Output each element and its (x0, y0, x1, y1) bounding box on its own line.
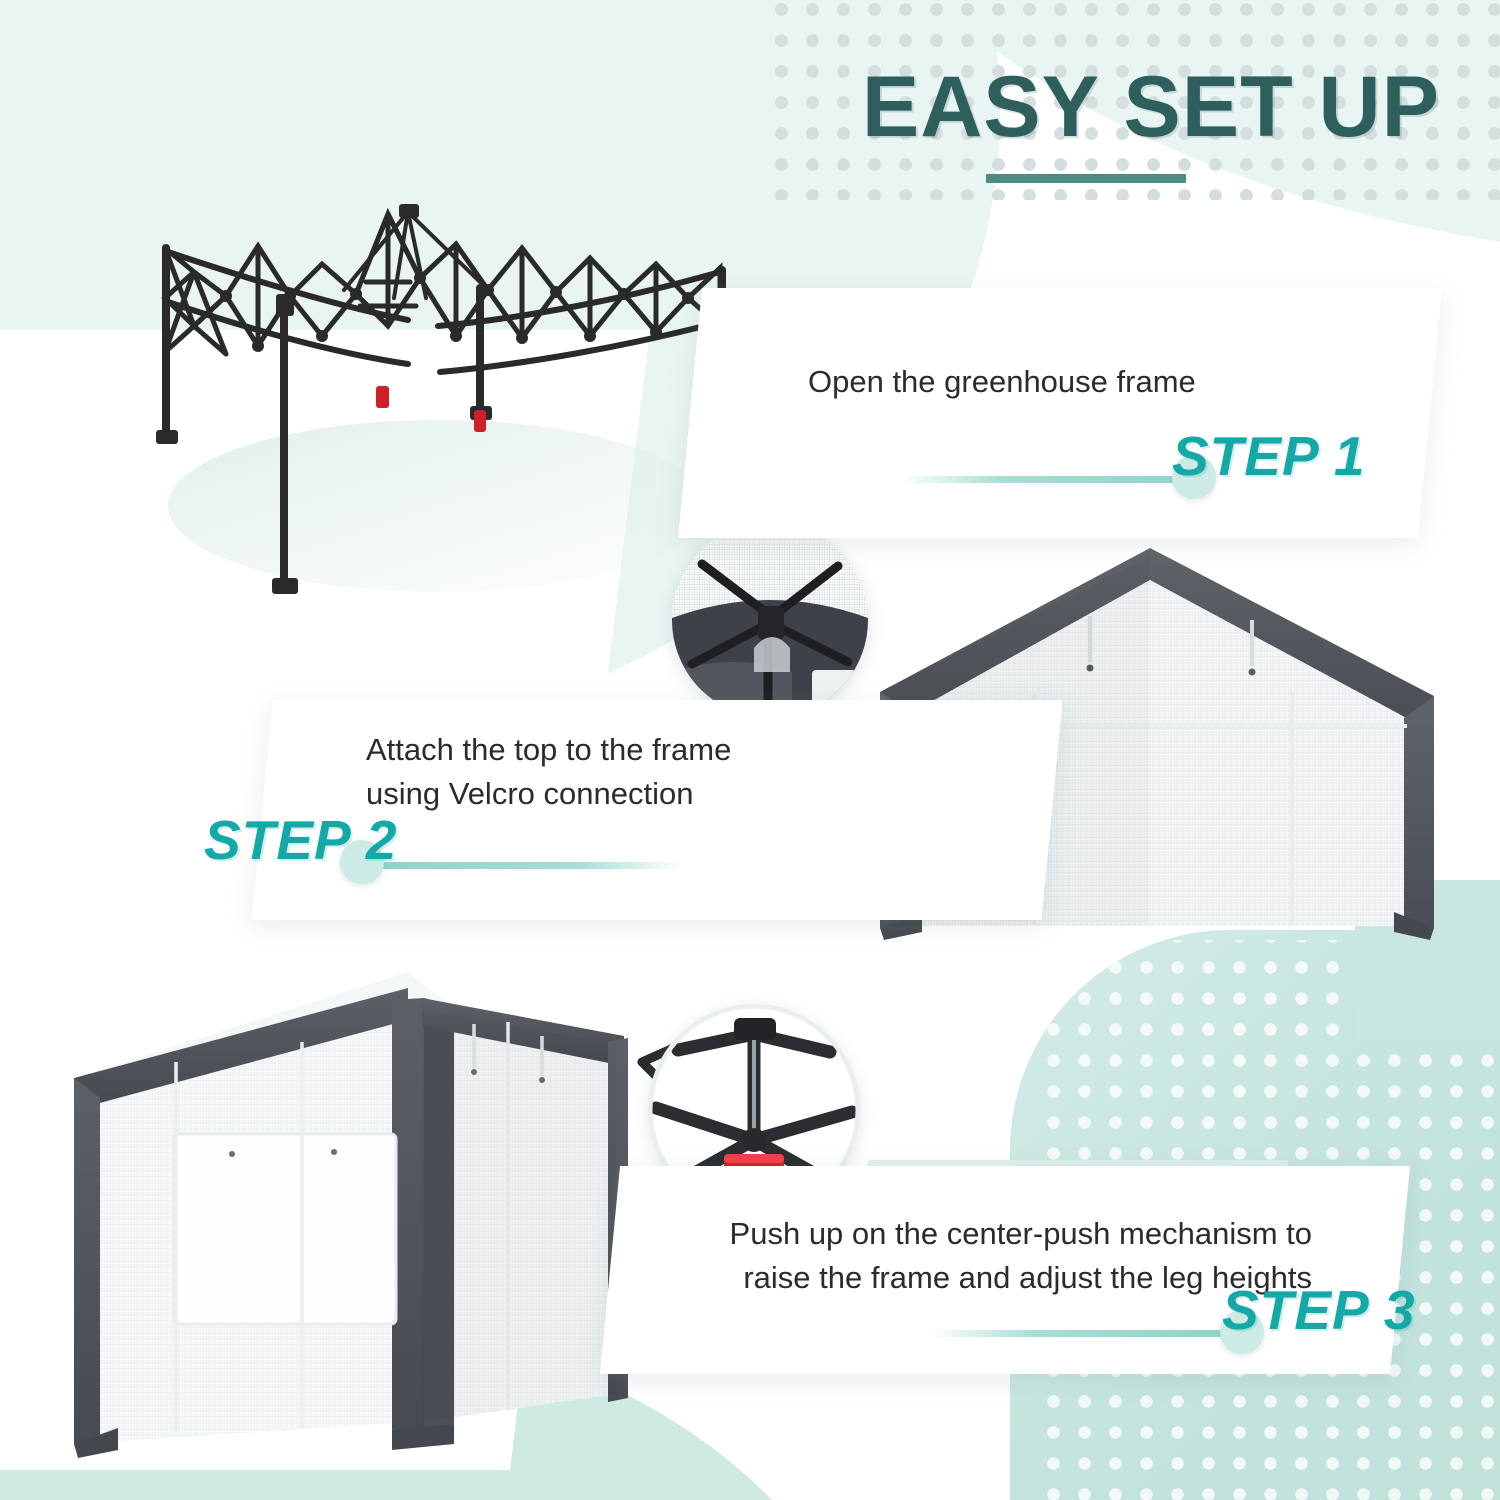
step1-rule (900, 476, 1200, 483)
content-layer: EASY SET UP Open the greenhouse frame ST… (0, 0, 1500, 1500)
step3-label: STEP 3 (1222, 1278, 1415, 1342)
step2-label: STEP 2 (204, 808, 397, 872)
step3-caption: Push up on the center-push mechanism to … (684, 1212, 1312, 1300)
step1-panel (678, 288, 1442, 538)
step2-caption: Attach the top to the frame using Velcro… (366, 728, 926, 816)
step1-label: STEP 1 (1172, 424, 1365, 488)
page-title: EASY SET UP (700, 58, 1440, 157)
title-underline (986, 174, 1186, 183)
step3-rule (930, 1330, 1230, 1337)
step1-caption: Open the greenhouse frame (808, 360, 1368, 404)
infographic-canvas: EASY SET UP Open the greenhouse frame ST… (0, 0, 1500, 1500)
step2-rule (378, 862, 683, 869)
